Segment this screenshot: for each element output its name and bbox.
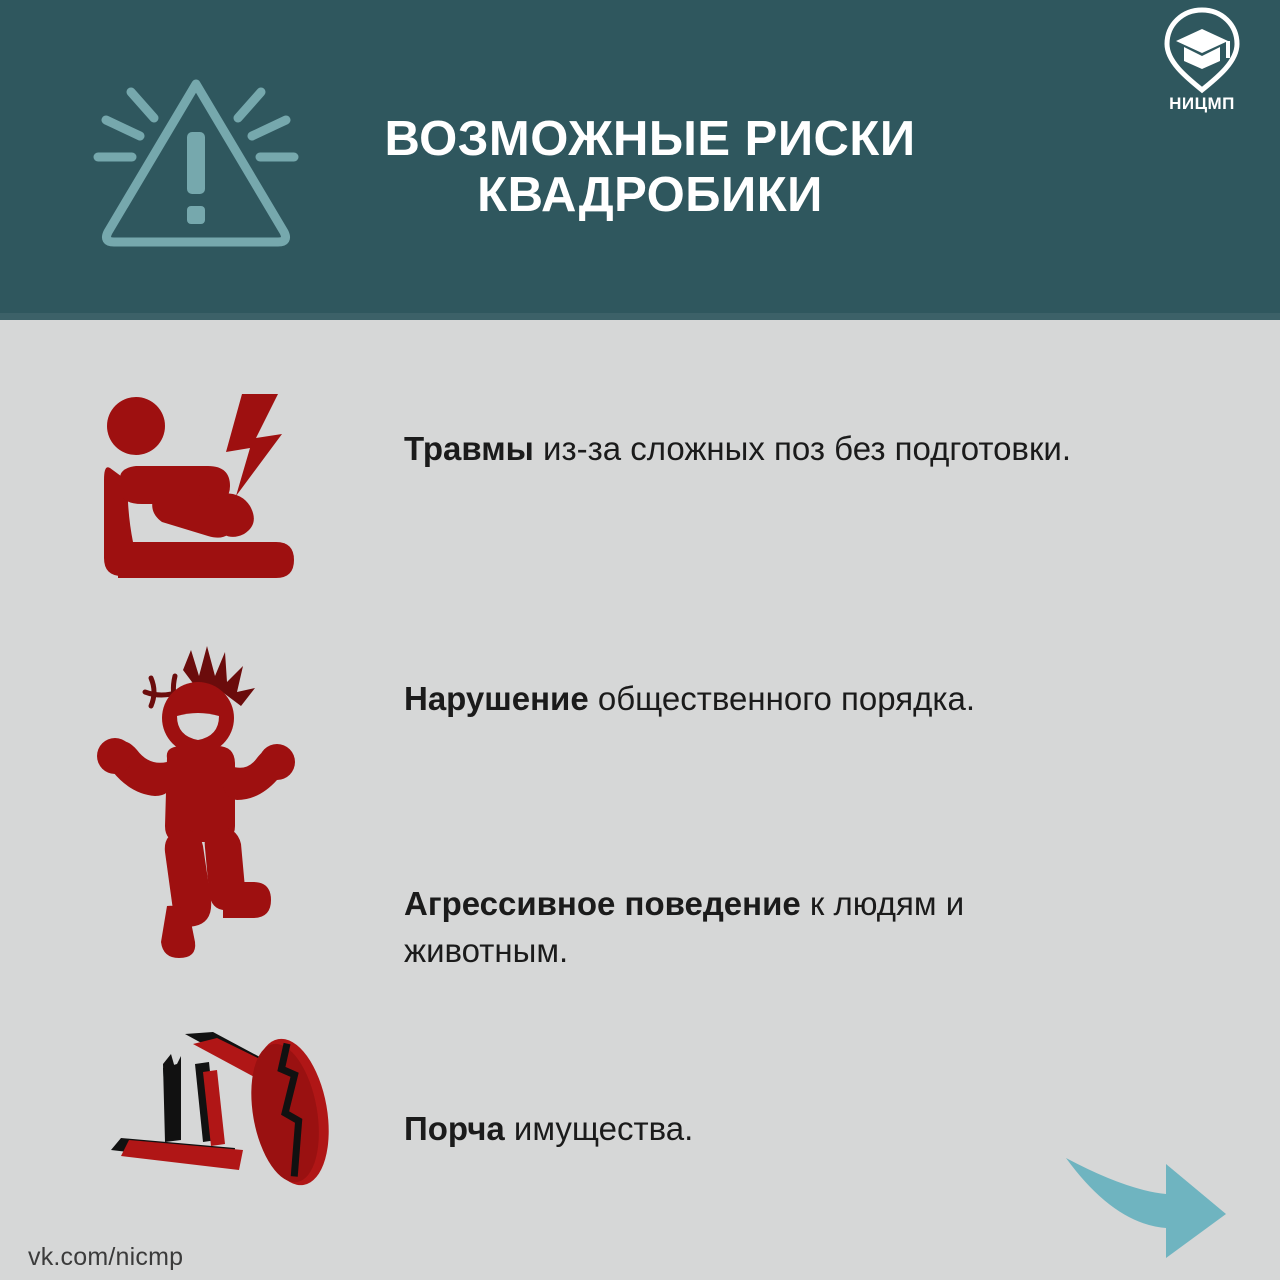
header-banner: НИЦМП ВОЗМОЖНЫЕ РИСКИ КВАДРОБИКИ [0,0,1280,320]
risk-item-bold-4: Порча [404,1110,505,1147]
header-divider [0,313,1280,320]
warning-triangle-icon [86,72,306,248]
risk-item-text-2: Нарушение общественного порядка. [404,675,1084,722]
risk-item-bold-2: Нарушение [404,680,589,717]
page-title: ВОЗМОЖНЫЕ РИСКИ КВАДРОБИКИ [330,112,970,224]
title-line-2: КВАДРОБИКИ [330,168,970,224]
risk-item-text-1: Травмы из-за сложных поз без подготовки. [404,425,1084,472]
angry-shouting-person-icon [95,630,295,960]
risk-item-rest-4: имущества. [505,1110,694,1147]
risk-item-rest-2: общественного порядка. [589,680,975,717]
infographic-poster: НИЦМП ВОЗМОЖНЫЕ РИСКИ КВАДРОБИКИ [0,0,1280,1280]
map-pin-graduation-cap-logo [1160,6,1244,94]
risk-item-bold-3: Агрессивное поведение [404,885,801,922]
title-line-1: ВОЗМОЖНЫЕ РИСКИ [330,112,970,168]
risk-item-bold-1: Травмы [404,430,534,467]
broken-stool-icon [85,1020,345,1200]
risk-item-text-4: Порча имущества. [404,1105,1084,1152]
risk-item-text-3: Агрессивное поведение к людям и животным… [404,880,1084,974]
organization-logo[interactable]: НИЦМП [1146,6,1258,124]
injured-person-icon [90,390,305,590]
logo-text: НИЦМП [1146,95,1258,112]
next-slide-arrow[interactable] [1060,1150,1230,1262]
risk-item-rest-1: из-за сложных поз без подготовки. [534,430,1071,467]
risk-list: Травмы из-за сложных поз без подготовки. [0,320,1280,1280]
footer-url[interactable]: vk.com/nicmp [28,1243,183,1272]
